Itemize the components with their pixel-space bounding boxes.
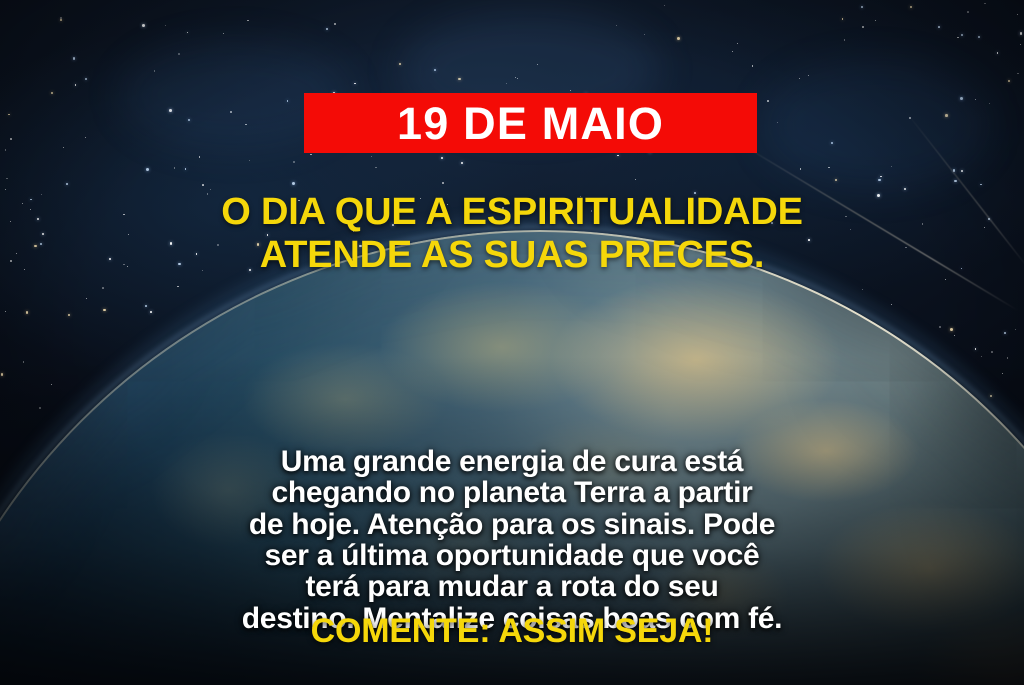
page-title: O DIA QUE A ESPIRITUALIDADE ATENDE AS SU… [0, 191, 1024, 277]
headline-line-1: O DIA QUE A ESPIRITUALIDADE [221, 191, 803, 233]
call-to-action: COMENTE: ASSIM SEJA! [0, 614, 1024, 648]
date-banner: 19 DE MAIO [304, 93, 757, 153]
body-line-4: ser a última oportunidade que você [0, 540, 1024, 571]
date-banner-label: 19 DE MAIO [397, 101, 664, 146]
body-line-5: terá para mudar a rota do seu [0, 571, 1024, 602]
body-line-2: chegando no planeta Terra a partir [0, 477, 1024, 508]
poster-canvas: 19 DE MAIO O DIA QUE A ESPIRITUALIDADE A… [0, 0, 1024, 685]
body-line-1: Uma grande energia de cura está [0, 446, 1024, 477]
poster-content: 19 DE MAIO O DIA QUE A ESPIRITUALIDADE A… [0, 0, 1024, 685]
body-paragraph: Uma grande energia de cura está chegando… [0, 446, 1024, 634]
call-to-action-label: COMENTE: ASSIM SEJA! [311, 612, 714, 650]
headline-line-2: ATENDE AS SUAS PRECES. [0, 234, 1024, 277]
body-line-3: de hoje. Atenção para os sinais. Pode [0, 509, 1024, 540]
